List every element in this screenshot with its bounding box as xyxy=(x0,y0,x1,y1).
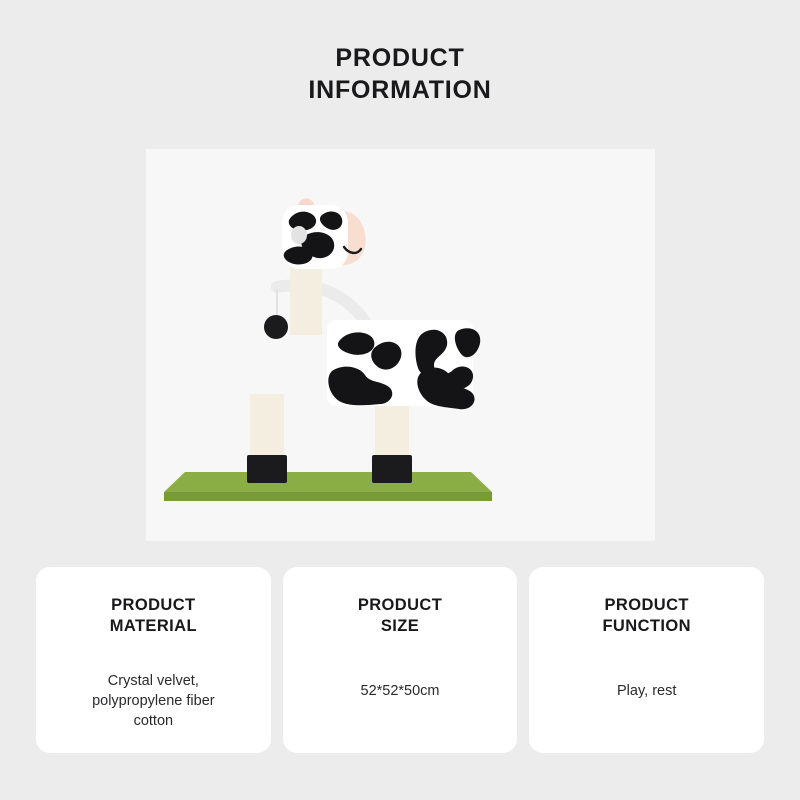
card-title-material: PRODUCT MATERIAL xyxy=(110,595,197,637)
product-image-panel xyxy=(146,149,655,541)
neck-post-icon xyxy=(290,259,322,335)
left-post-icon xyxy=(247,394,287,483)
card-title-line-2: FUNCTION xyxy=(602,616,690,637)
info-card-product-material: PRODUCT MATERIAL Crystal velvet, polypro… xyxy=(36,567,271,753)
page-title: PRODUCT INFORMATION xyxy=(0,42,800,106)
card-title-line-1: PRODUCT xyxy=(358,595,442,616)
card-value-line-1: Crystal velvet, xyxy=(92,671,215,691)
card-title-size: PRODUCT SIZE xyxy=(358,595,442,637)
green-base-icon xyxy=(164,472,492,501)
right-post-icon xyxy=(372,394,412,483)
page-title-line-1: PRODUCT xyxy=(0,42,800,74)
page-title-line-2: INFORMATION xyxy=(0,74,800,106)
card-value-line-2: polypropylene fiber xyxy=(92,691,215,711)
product-illustration-svg xyxy=(146,149,655,541)
product-info-card-row: PRODUCT MATERIAL Crystal velvet, polypro… xyxy=(36,567,764,753)
card-value-size: 52*52*50cm xyxy=(361,681,440,701)
card-title-function: PRODUCT FUNCTION xyxy=(602,595,690,637)
card-title-line-1: PRODUCT xyxy=(602,595,690,616)
card-value-material: Crystal velvet, polypropylene fiber cott… xyxy=(92,671,215,731)
cow-body-icon xyxy=(327,320,480,409)
card-title-line-2: MATERIAL xyxy=(110,616,197,637)
card-value-function: Play, rest xyxy=(617,681,676,701)
card-value-line-1: 52*52*50cm xyxy=(361,681,440,701)
toy-ball-icon xyxy=(264,315,288,339)
card-title-line-2: SIZE xyxy=(358,616,442,637)
card-value-line-1: Play, rest xyxy=(617,681,676,701)
card-value-line-3: cotton xyxy=(92,711,215,731)
cow-head-icon xyxy=(282,198,366,269)
info-card-product-size: PRODUCT SIZE 52*52*50cm xyxy=(283,567,518,753)
info-card-product-function: PRODUCT FUNCTION Play, rest xyxy=(529,567,764,753)
card-title-line-1: PRODUCT xyxy=(110,595,197,616)
